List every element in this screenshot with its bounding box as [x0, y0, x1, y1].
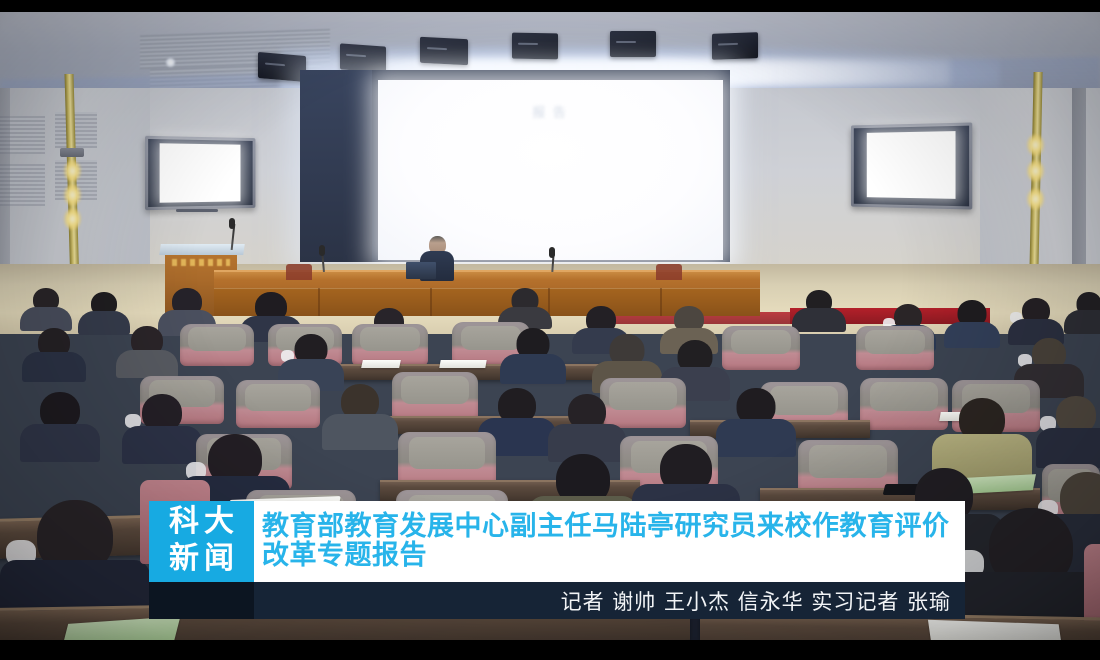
- seat-pad: [870, 382, 939, 411]
- seat-pad: [188, 327, 246, 351]
- audience-person: [1008, 298, 1064, 342]
- desk-paper: [928, 620, 1062, 640]
- left-monitor-screen: [160, 143, 241, 202]
- left-wall-monitor: [145, 136, 255, 210]
- logo-line-1: 科大: [164, 504, 239, 541]
- credits-right-block: 记者 谢帅 王小杰 信永华 实习记者 张瑜: [254, 582, 965, 619]
- desk-paper: [439, 360, 486, 368]
- audience-person: [1064, 292, 1100, 326]
- audience-person: [500, 328, 566, 382]
- wall-lamp-left-1: [64, 160, 81, 182]
- logo-line-2: 新闻: [164, 541, 239, 578]
- headline-line-2: 改革专题报告: [262, 541, 957, 570]
- news-program-logo: 科大 新闻: [149, 501, 254, 582]
- letterbox-top: [0, 0, 1100, 12]
- credits-row: 记者 谢帅 王小杰 信永华 实习记者 张瑜: [149, 582, 965, 619]
- stage-chair-1: [286, 264, 312, 280]
- seat: [722, 326, 800, 370]
- lower-third-graphic: 科大 新闻 教育部教育发展中心副主任马陆亭研究员来校作教育评价 改革专题报告 记…: [149, 501, 965, 619]
- credits-text: 记者 谢帅 王小杰 信永华 实习记者 张瑜: [561, 586, 951, 616]
- seat-pad: [731, 330, 792, 355]
- projection-screen-text: 报 告: [505, 102, 595, 118]
- audience-person: [116, 326, 178, 376]
- seat-pad: [360, 327, 419, 351]
- seat-pad: [401, 376, 468, 404]
- audience-person: [20, 288, 72, 328]
- seat-pad: [809, 445, 887, 479]
- audience-person: [1036, 396, 1100, 466]
- person-shoulders: [322, 414, 398, 450]
- video-frame: 报 告: [0, 0, 1100, 660]
- ceiling-speaker-6: [712, 32, 758, 60]
- person-shoulders: [1036, 428, 1100, 468]
- right-wall-monitor: [851, 122, 972, 209]
- person-shoulders: [944, 322, 1000, 348]
- ceiling-speaker-5: [610, 31, 656, 57]
- left-monitor-cable: [176, 209, 218, 212]
- perforated-panel-left-3: [55, 112, 97, 148]
- ceiling-speaker-1: [258, 52, 306, 82]
- wall-lamp-left-3: [64, 208, 81, 230]
- letterbox-bottom: [0, 640, 1100, 660]
- wall-lamp-right-3: [1027, 188, 1044, 210]
- person-shoulders: [116, 350, 178, 378]
- person-shoulders: [792, 308, 846, 332]
- audience-person: [20, 392, 100, 458]
- audience-person: [548, 394, 626, 458]
- wall-lamp-right-2: [1027, 160, 1044, 182]
- seat: [392, 372, 478, 422]
- audience-person: [792, 290, 846, 324]
- ceiling-spot-lamp: [166, 58, 175, 67]
- seat: [236, 380, 320, 428]
- ceiling-speaker-2: [340, 43, 386, 72]
- lectern-microphone-head: [229, 218, 235, 229]
- audience-person: [322, 384, 398, 446]
- projection-screen-left-dark: [300, 70, 372, 262]
- seat: [856, 326, 934, 370]
- table-microphone-head-2: [549, 247, 555, 258]
- right-monitor-screen: [867, 131, 956, 199]
- audience-person: [944, 300, 1000, 344]
- seat: [180, 324, 254, 366]
- table-microphone-head-1: [319, 245, 325, 256]
- seat-pad: [865, 330, 926, 355]
- wall-lamp-left-2: [64, 184, 81, 206]
- ceiling-speaker-3: [420, 37, 468, 66]
- presenter-laptop: [406, 262, 436, 279]
- desk-paper: [361, 360, 401, 368]
- stage-chair-2: [656, 264, 682, 280]
- person-shoulders: [1064, 310, 1100, 334]
- headline-panel: 教育部教育发展中心副主任马陆亭研究员来校作教育评价 改革专题报告: [254, 501, 965, 582]
- audience-person: [22, 328, 86, 380]
- audience-person: [498, 288, 552, 322]
- seat-pad: [245, 384, 311, 411]
- headline-line-1: 教育部教育发展中心副主任马陆亭研究员来校作教育评价: [262, 512, 957, 541]
- person-shoulders: [22, 352, 86, 382]
- person-shoulders: [500, 354, 566, 384]
- credits-left-block: [149, 582, 254, 619]
- lower-third-main-row: 科大 新闻 教育部教育发展中心副主任马陆亭研究员来校作教育评价 改革专题报告: [149, 501, 965, 582]
- lectern-plaque: [172, 259, 230, 266]
- seat-pad: [409, 437, 485, 469]
- wall-lamp-right-1: [1027, 134, 1044, 156]
- wall-lamp-bracket-left: [60, 148, 84, 157]
- ceiling-speaker-4: [512, 33, 558, 60]
- person-shoulders: [20, 424, 100, 462]
